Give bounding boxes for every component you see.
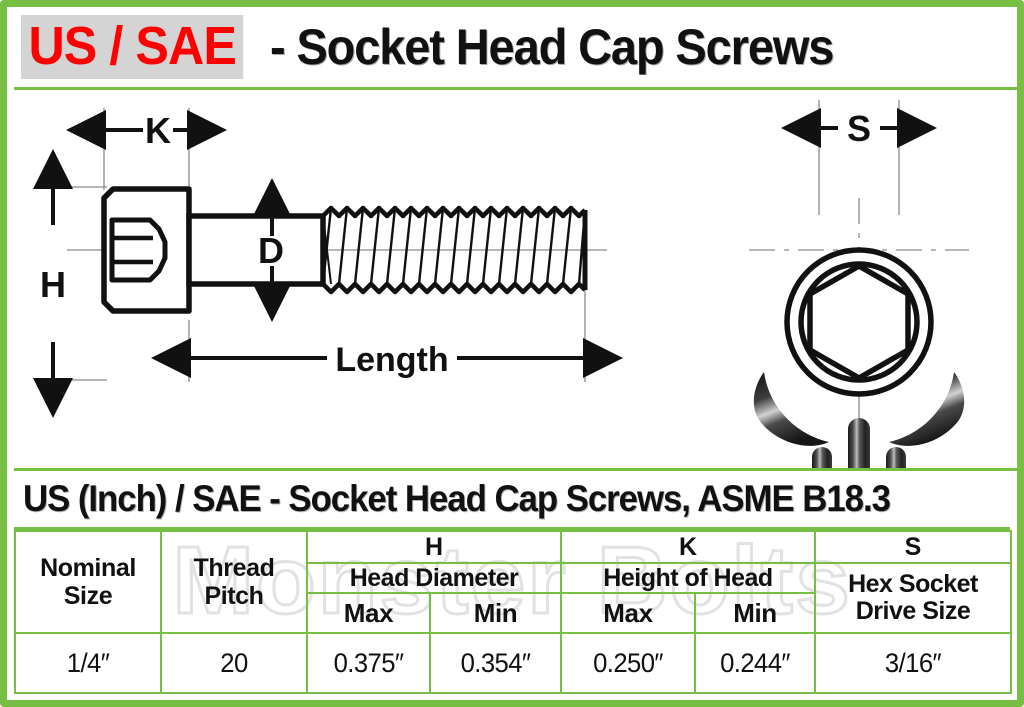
spec-sheet-page: US / SAE - Socket Head Cap Screws bbox=[0, 0, 1024, 707]
header-k-min: Min bbox=[695, 593, 815, 633]
heading-rule bbox=[14, 527, 1010, 530]
cell-hex-socket-drive-size: 3/16″ bbox=[820, 633, 1006, 693]
svg-text:H: H bbox=[40, 264, 66, 305]
dimension-s: S bbox=[821, 108, 897, 149]
table-row: 1/4″ 20 0.375″ 0.354″ 0.250″ 0.244″ 3/16… bbox=[15, 633, 1011, 693]
header-h-max: Max bbox=[307, 593, 430, 633]
technical-drawing: K H D Length bbox=[7, 90, 1017, 468]
table-header-row-letters: Nominal Size Thread Pitch H K S bbox=[15, 531, 1011, 563]
header-s-letter: S bbox=[815, 531, 1011, 563]
header-h-min: Min bbox=[430, 593, 561, 633]
cell-thread-pitch: 20 bbox=[165, 633, 304, 693]
header-nominal-size: Nominal Size bbox=[15, 531, 161, 633]
cell-height-of-head-min: 0.244″ bbox=[698, 633, 812, 693]
title-subtitle: - Socket Head Cap Screws bbox=[270, 20, 833, 74]
specification-section: Monster Bolts US (Inch) / SAE - Socket H… bbox=[7, 471, 1017, 700]
hex-socket-top-view bbox=[787, 250, 931, 394]
cell-head-diameter-min: 0.354″ bbox=[433, 633, 557, 693]
table-heading-text: US (Inch) / SAE - Socket Head Cap Screws… bbox=[23, 479, 890, 519]
header-thread-pitch: Thread Pitch bbox=[161, 531, 307, 633]
svg-text:D: D bbox=[258, 230, 284, 271]
cell-nominal-size: 1/4″ bbox=[19, 633, 158, 693]
page-title: US / SAE - Socket Head Cap Screws bbox=[7, 7, 1017, 87]
header-head-diameter: Head Diameter bbox=[307, 563, 561, 593]
svg-text:S: S bbox=[847, 108, 871, 149]
svg-text:K: K bbox=[145, 110, 171, 151]
header-k-max: Max bbox=[561, 593, 695, 633]
header-hex-socket-drive-size: Hex Socket Drive Size bbox=[815, 563, 1011, 633]
cell-height-of-head-max: 0.250″ bbox=[564, 633, 691, 693]
header-height-of-head: Height of Head bbox=[561, 563, 815, 593]
title-badge-us-sae: US / SAE bbox=[21, 15, 243, 79]
dimension-h: H bbox=[40, 189, 66, 378]
specification-table: Nominal Size Thread Pitch H K S Head Dia… bbox=[14, 530, 1012, 694]
cell-head-diameter-max: 0.375″ bbox=[310, 633, 427, 693]
svg-text:Length: Length bbox=[335, 341, 448, 379]
dimension-length: Length bbox=[191, 341, 583, 379]
diagram-area: K H D Length bbox=[7, 90, 1017, 468]
header-h-letter: H bbox=[307, 531, 561, 563]
dimension-k: K bbox=[106, 110, 187, 151]
header-k-letter: K bbox=[561, 531, 815, 563]
table-heading: US (Inch) / SAE - Socket Head Cap Screws… bbox=[7, 471, 1017, 527]
